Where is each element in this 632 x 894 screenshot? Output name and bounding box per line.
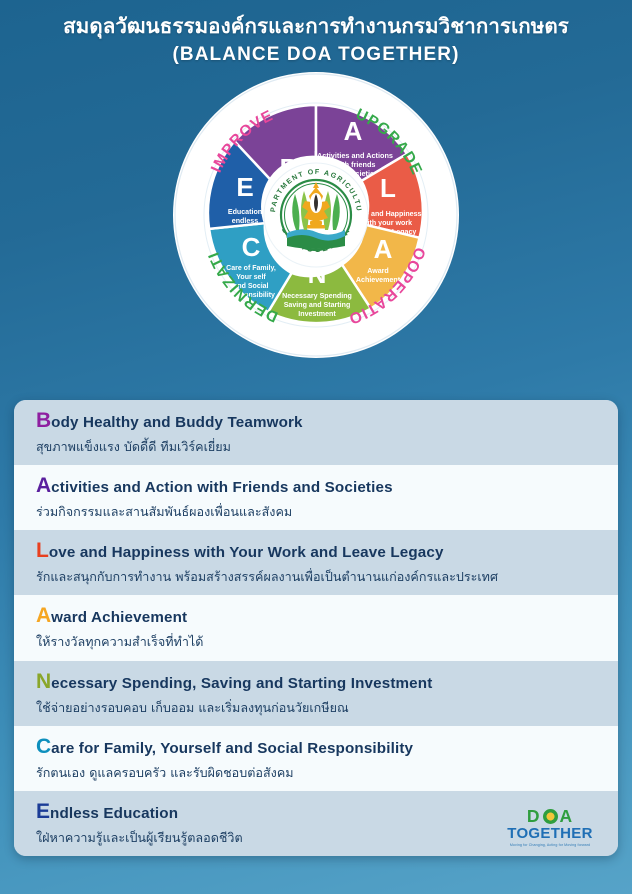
list-item-title: Necessary Spending, Saving and Starting …: [36, 670, 618, 694]
segment-letter-e: E: [236, 172, 253, 202]
list-item-subtitle: สุขภาพแข็งแรง บัดดี้ดี ทีมเวิร์คเยี่ยม: [36, 437, 618, 457]
list-item-title-rest: ctivities and Action with Friends and So…: [51, 479, 393, 496]
list-item-initial: A: [36, 474, 51, 497]
svg-text:endless: endless: [232, 217, 258, 225]
list-item-title-rest: ward Achievement: [51, 609, 187, 626]
list-item-initial: B: [36, 409, 51, 432]
list-item-title-rest: ody Healthy and Buddy Teamwork: [51, 414, 302, 431]
list-item[interactable]: Care for Family, Yourself and Social Res…: [14, 726, 618, 791]
list-item-initial: E: [36, 800, 50, 823]
list-item-initial: A: [36, 604, 51, 627]
svg-text:Care of Family,: Care of Family,: [226, 265, 276, 272]
segment-letter-l: L: [380, 173, 396, 203]
list-item[interactable]: Body Healthy and Buddy Teamwork สุขภาพแข…: [14, 400, 618, 465]
list-item-subtitle: รักและสนุกกับการทำงาน พร้อมสร้างสรรค์ผลง…: [36, 567, 618, 587]
wheel-graphic: B Body healthy and buddy teamwork A Acti…: [171, 70, 461, 360]
doa-garuda-emblem: [281, 180, 351, 250]
segment-letter-c: C: [242, 232, 261, 262]
list-item[interactable]: Activities and Action with Friends and S…: [14, 465, 618, 530]
list-item-title-rest: are for Family, Yourself and Social Resp…: [51, 740, 413, 757]
svg-text:Investment: Investment: [298, 310, 336, 318]
svg-text:with friends: with friends: [334, 160, 376, 169]
list-item-title-rest: ecessary Spending, Saving and Starting I…: [51, 675, 432, 692]
list-item-title: Care for Family, Yourself and Social Res…: [36, 735, 618, 759]
svg-text:Education: Education: [228, 208, 262, 216]
svg-text:Saving and Starting: Saving and Starting: [284, 301, 351, 309]
logo-wordmark-doa: D A: [502, 808, 598, 826]
list-item-title: Love and Happiness with Your Work and Le…: [36, 539, 618, 563]
logo-wordmark-together: TOGETHER: [502, 826, 598, 841]
list-item-title: Activities and Action with Friends and S…: [36, 474, 618, 498]
page-header: สมดุลวัฒนธรรมองค์กรและการทำงานกรมวิชาการ…: [0, 0, 632, 72]
list-item-title: Body Healthy and Buddy Teamwork: [36, 409, 618, 433]
doa-together-logo: D A TOGETHER Moving for Changing, Acting…: [502, 808, 598, 848]
svg-text:Your self: Your self: [236, 274, 266, 281]
principles-list-card: Body Healthy and Buddy Teamwork สุขภาพแข…: [14, 400, 618, 856]
list-item[interactable]: Necessary Spending, Saving and Starting …: [14, 661, 618, 726]
list-item-initial: N: [36, 670, 51, 693]
list-item-initial: C: [36, 735, 51, 758]
list-item-subtitle: ใช้จ่ายอย่างรอบคอบ เก็บออม และเริ่มลงทุน…: [36, 698, 618, 718]
list-item[interactable]: Award Achievement ให้รางวัลทุกความสำเร็จ…: [14, 595, 618, 660]
svg-text:Activities and Actions: Activities and Actions: [317, 151, 393, 160]
list-item[interactable]: Love and Happiness with Your Work and Le…: [14, 530, 618, 595]
logo-tagline: Moving for Changing, Acting for Moving f…: [502, 843, 598, 847]
logo-letter-a: A: [560, 808, 574, 826]
doa-seal-icon: [543, 809, 558, 824]
segment-letter-a2: A: [374, 234, 393, 264]
svg-text:Necessary Spending: Necessary Spending: [282, 292, 352, 300]
svg-text:Award: Award: [367, 267, 389, 275]
balance-wheel-diagram: B Body healthy and buddy teamwork A Acti…: [0, 72, 632, 362]
list-item-subtitle: ให้รางวัลทุกความสำเร็จที่ทำได้: [36, 632, 618, 652]
list-item-initial: L: [36, 539, 49, 562]
list-item-title: Award Achievement: [36, 604, 618, 628]
list-item-title-rest: ndless Education: [50, 805, 178, 822]
page-title-thai: สมดุลวัฒนธรรมองค์กรและการทำงานกรมวิชาการ…: [18, 14, 614, 40]
list-item-subtitle: รักตนเอง ดูแลครอบครัว และรับผิดชอบต่อสัง…: [36, 763, 618, 783]
list-item-subtitle: ร่วมกิจกรรมและสานสัมพันธ์ผองเพื่อนและสัง…: [36, 502, 618, 522]
page-title-english: (BALANCE DOA TOGETHER): [18, 44, 614, 66]
logo-letter-d: D: [527, 808, 541, 826]
list-item-title-rest: ove and Happiness with Your Work and Lea…: [49, 544, 444, 561]
